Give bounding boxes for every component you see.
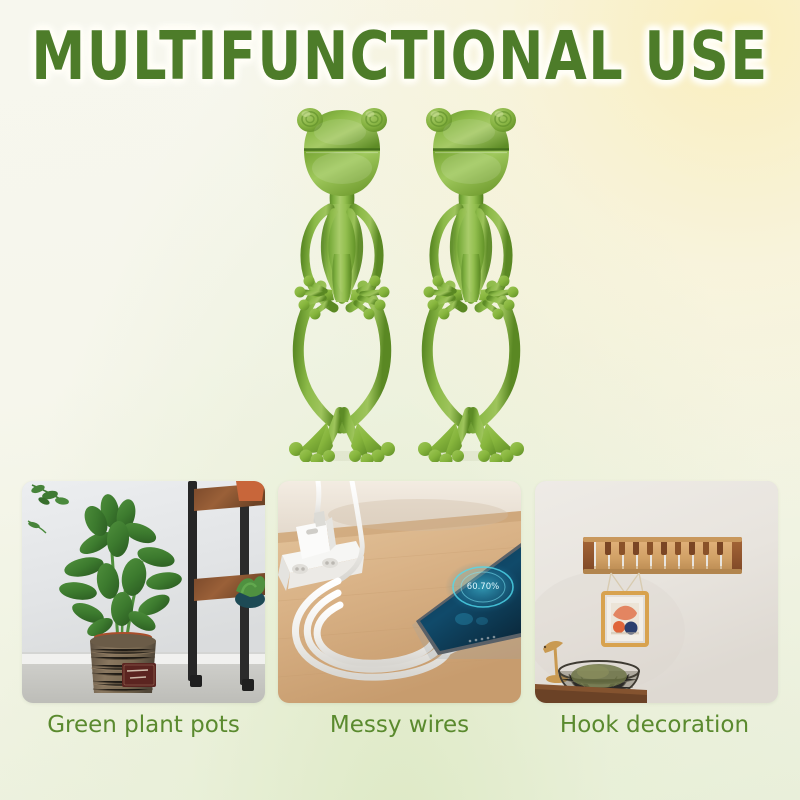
scene-messy-wires: 60.70% (278, 481, 521, 703)
panel-messy-wires[interactable]: 60.70% (278, 481, 521, 703)
scene-hook-decoration (535, 481, 778, 703)
foot-right (349, 422, 395, 462)
product-poster: MULTIFUNCTIONAL USE (0, 0, 800, 800)
wooden-wall-hook-rack (583, 537, 742, 574)
caption-hook-decoration: Hook decoration (533, 708, 776, 742)
foot-left (418, 422, 464, 462)
panel-captions: Green plant pots Messy wires Hook decora… (0, 708, 800, 754)
frame-artwork (611, 603, 639, 635)
poster-title-area: MULTIFUNCTIONAL USE (0, 18, 800, 84)
caption-messy-wires: Messy wires (278, 708, 521, 742)
basket-label-flower-stand (122, 663, 156, 687)
phone-battery-percent: 60.70% (467, 582, 499, 592)
caption-green-plant-pots: Green plant pots (22, 708, 265, 742)
woven-basket-planter (90, 634, 156, 693)
hero-product-area (0, 104, 800, 466)
panel-green-plant-pots[interactable] (22, 481, 265, 703)
foot-left (289, 422, 335, 462)
frog-hook-right (409, 104, 533, 462)
frog-hook-left (280, 104, 404, 462)
scene-green-plant-pots (22, 481, 265, 703)
foot-right (478, 422, 524, 462)
panel-hook-decoration[interactable] (535, 481, 778, 703)
use-case-panels: 60.70% (0, 481, 800, 705)
page-title: MULTIFUNCTIONAL USE (31, 18, 768, 95)
